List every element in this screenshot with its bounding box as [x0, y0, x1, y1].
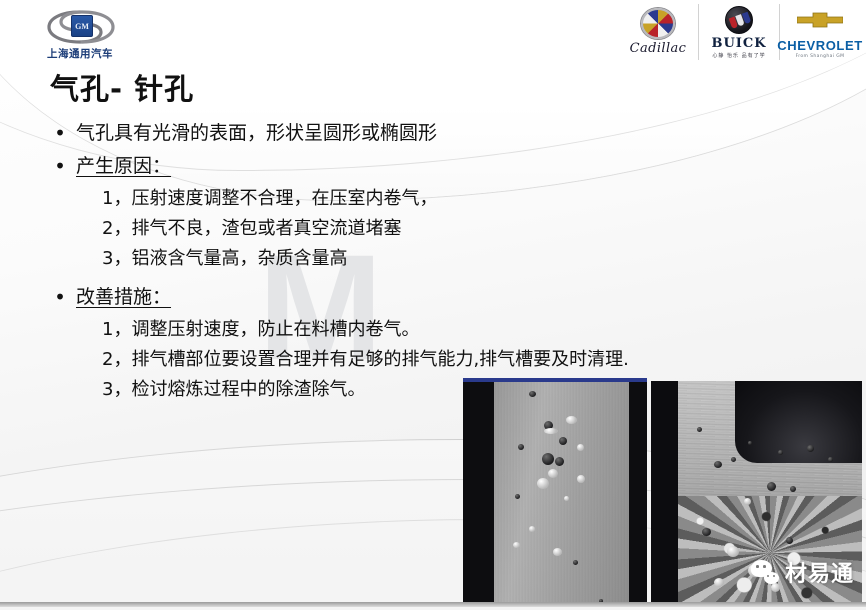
- chevrolet-bowtie-icon: [797, 5, 843, 35]
- bullet-text: 气孔具有光滑的表面，形状呈圆形或椭圆形: [76, 118, 437, 149]
- porosity-sample-photo-left: [463, 378, 647, 610]
- sub-item: 3，铝液含气量高，杂质含量高: [102, 244, 844, 274]
- gm-badge-icon: GM: [71, 15, 93, 37]
- buick-wordmark: BUICK: [711, 36, 766, 51]
- buick-tri-shield-icon: [725, 5, 753, 35]
- brand-chevrolet: CHEVROLET From Shanghai GM: [779, 4, 860, 60]
- sub-item: 2，排气槽部位要设置合理并有足够的排气能力,排气槽要及时清理.: [102, 345, 844, 375]
- buick-subtext: 心静 怡乐 品有了学: [712, 52, 765, 59]
- brand-cadillac: Cadillac: [618, 4, 698, 60]
- brand-buick: BUICK 心静 怡乐 品有了学: [698, 4, 779, 60]
- gm-badge-text: GM: [75, 22, 89, 31]
- bullet-marker: •: [44, 118, 76, 148]
- sub-item: 2，排气不良，渣包或者真空流道堵塞: [102, 214, 844, 244]
- slide-body: • 气孔具有光滑的表面，形状呈圆形或椭圆形 • 产生原因： 1，压射速度调整不合…: [44, 118, 844, 405]
- slide-canvas: M GM 上海通用汽车 Cadillac: [0, 0, 866, 610]
- bullet-marker: •: [44, 151, 76, 181]
- porosity-sample-photo-right: 材易通: [651, 381, 862, 610]
- shanghai-gm-logo: GM 上海通用汽车: [32, 8, 128, 60]
- bullet-item: • 改善措施：: [44, 282, 844, 313]
- bullet-item: • 产生原因：: [44, 151, 844, 182]
- chevrolet-wordmark: CHEVROLET: [777, 38, 863, 53]
- cadillac-crest-icon: [641, 9, 675, 39]
- chevrolet-subtext: From Shanghai GM: [796, 54, 845, 59]
- photo-image-left: [463, 382, 647, 610]
- sub-item: 1，压射速度调整不合理，在压室内卷气，: [102, 184, 844, 214]
- bullet-marker: •: [44, 282, 76, 312]
- bullet-item: • 气孔具有光滑的表面，形状呈圆形或椭圆形: [44, 118, 844, 149]
- photo-image-right: [651, 381, 862, 610]
- shanghai-gm-company-name: 上海通用汽车: [32, 46, 128, 61]
- sub-item: 1，调整压射速度，防止在料槽内卷气。: [102, 315, 844, 345]
- cadillac-wordmark: Cadillac: [630, 41, 687, 56]
- bullet-text: 改善措施：: [76, 282, 179, 313]
- page-title: 气孔- 针孔: [50, 66, 194, 108]
- brand-logos: Cadillac BUICK 心静 怡乐 品有了学: [618, 4, 860, 60]
- bullet-text: 产生原因：: [76, 151, 179, 182]
